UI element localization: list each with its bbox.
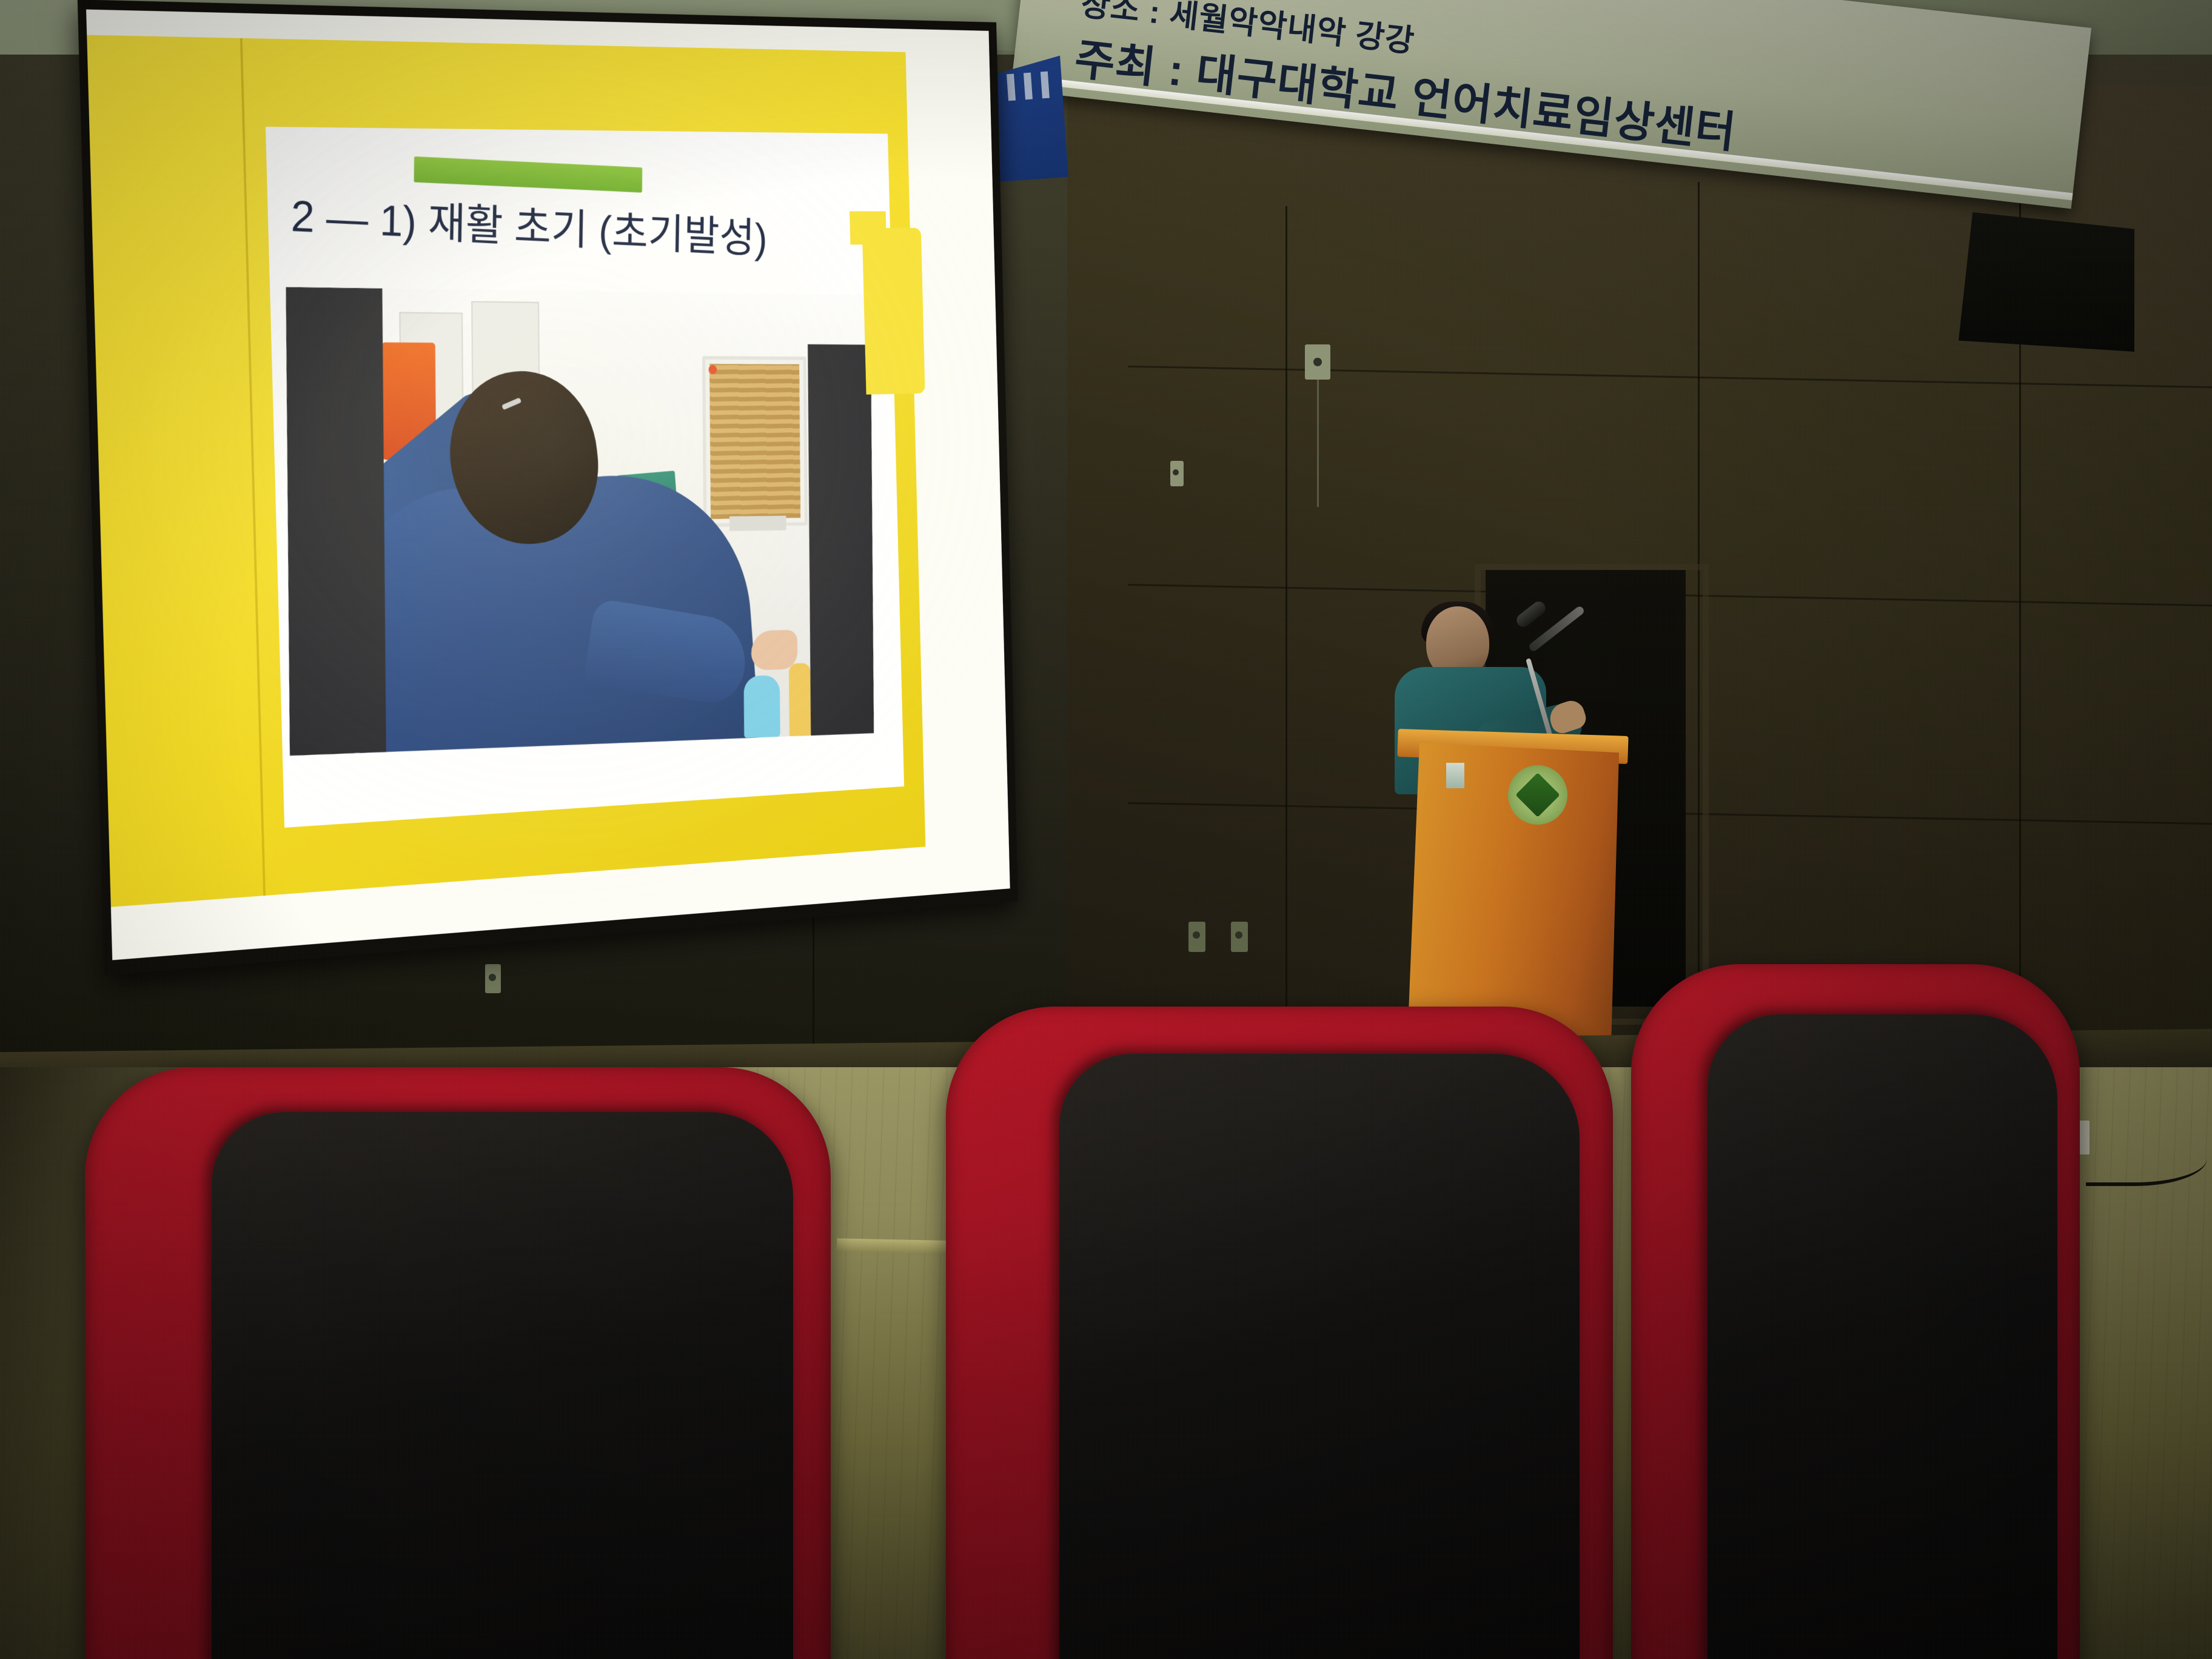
wall-conduit	[1317, 380, 1319, 507]
wall-plate[interactable]	[1305, 344, 1330, 380]
podium-sticker	[1446, 763, 1464, 788]
photo-monitor-icon	[702, 356, 808, 527]
photo-monitor-indicator	[708, 365, 717, 374]
wall-plate[interactable]	[1188, 922, 1205, 952]
wall-speaker-icon	[1959, 212, 2134, 352]
list-item[interactable]	[946, 1007, 1613, 1659]
photo-monitor-screen	[709, 364, 800, 519]
wall-panel-seam	[813, 910, 814, 1061]
slide-photo	[286, 287, 874, 756]
photo-toy-yellow	[789, 663, 811, 736]
wall-plate-port-icon	[1173, 469, 1179, 475]
slide-tab	[862, 228, 925, 395]
list-item[interactable]	[1631, 964, 2080, 1659]
wall-plate-port-icon	[489, 974, 496, 981]
podium-emblem-icon	[1508, 765, 1567, 825]
photo-child-hand	[751, 630, 798, 671]
seat-panel	[1708, 1014, 2057, 1659]
photo-toy-blue	[743, 675, 780, 738]
wall-plate[interactable]	[1231, 922, 1248, 952]
seat-panel	[1059, 1054, 1580, 1659]
wall-plate-port-icon	[1193, 931, 1200, 939]
photo-letterbox-right	[808, 344, 874, 741]
photo-letterbox-left	[286, 287, 386, 756]
projection-screen: 2 — 1) 재활 초기 (초기발성)	[78, 0, 1018, 976]
list-item[interactable]	[85, 1067, 831, 1659]
seat-panel	[212, 1112, 793, 1659]
auditorium-scene: 장소 : 세월악악내악 강강 주최 : 대구대학교 언어치료임상센터	[0, 0, 2212, 1659]
photo-monitor-stand	[729, 515, 786, 531]
podium-emblem-diamond	[1515, 773, 1560, 817]
wall-plate[interactable]	[1170, 461, 1184, 486]
projection-surface: 2 — 1) 재활 초기 (초기발성)	[86, 10, 1010, 960]
wall-plate-port-icon	[1235, 931, 1242, 939]
slide: 2 — 1) 재활 초기 (초기발성)	[86, 10, 1010, 960]
wall-panel-seam	[1285, 206, 1287, 1043]
wall-plate[interactable]	[485, 964, 501, 993]
wall-plate-port-icon	[1313, 358, 1322, 366]
